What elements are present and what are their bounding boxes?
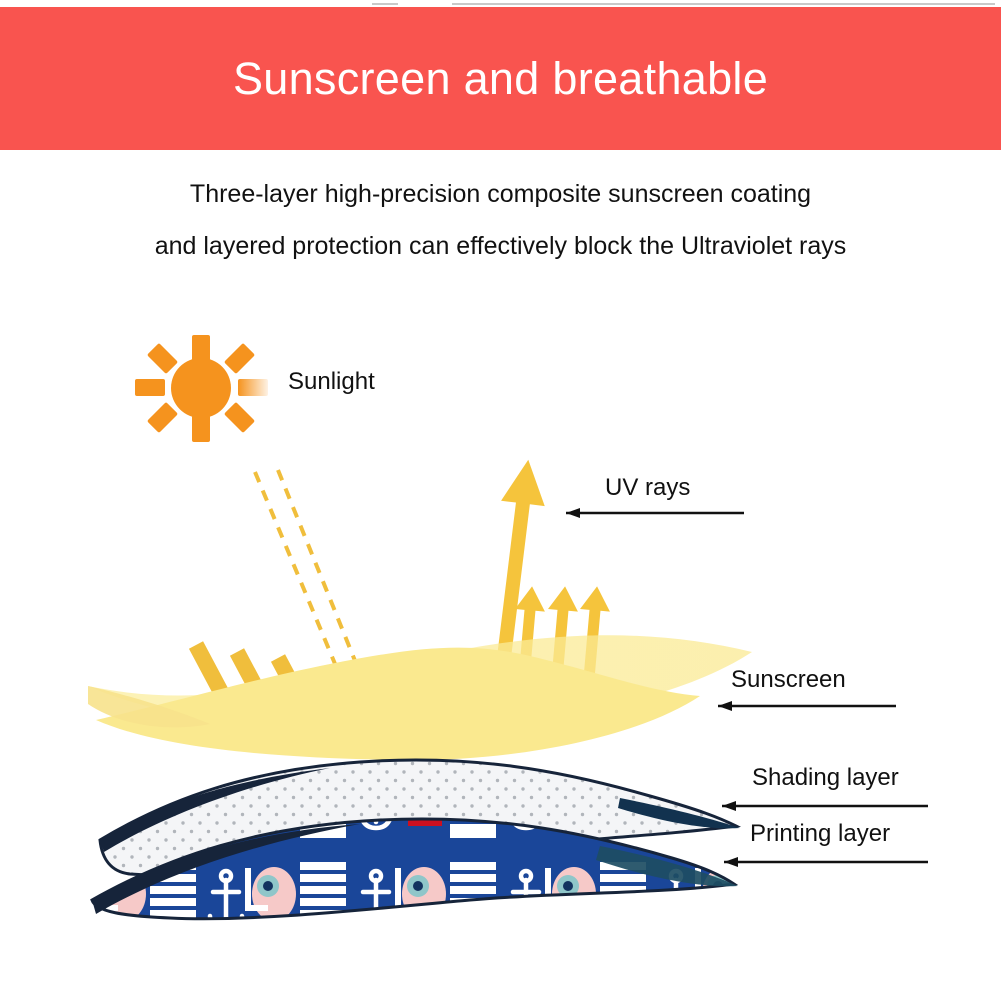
subtitle-block: Three-layer high-precision composite sun… — [0, 168, 1001, 272]
sunscreen-layer — [88, 635, 752, 760]
chrome-sliver-segment-right — [452, 3, 995, 5]
sunlight-label: Sunlight — [288, 370, 375, 394]
banner: Sunscreen and breathable — [0, 7, 1001, 150]
uv-rays-label: UV rays — [605, 476, 690, 500]
uv-rays-arrow — [566, 508, 744, 518]
subtitle-line-2: and layered protection can effectively b… — [0, 220, 1001, 272]
sunscreen-label: Sunscreen — [731, 668, 846, 692]
browser-chrome-sliver — [0, 0, 1001, 7]
shading-layer-label: Shading layer — [752, 766, 899, 790]
diagram-svg — [0, 300, 1001, 1001]
sun-icon — [135, 335, 268, 442]
page-root: Sunscreen and breathable Three-layer hig… — [0, 0, 1001, 1001]
chrome-sliver-segment-left — [372, 3, 398, 5]
sunscreen-arrow — [718, 701, 896, 711]
subtitle-line-1: Three-layer high-precision composite sun… — [0, 168, 1001, 220]
printing-layer-arrow — [724, 857, 928, 867]
banner-title: Sunscreen and breathable — [233, 56, 768, 101]
shading-layer-arrow — [722, 801, 928, 811]
printing-layer-label: Printing layer — [750, 822, 890, 846]
layer-diagram — [0, 300, 1001, 1001]
